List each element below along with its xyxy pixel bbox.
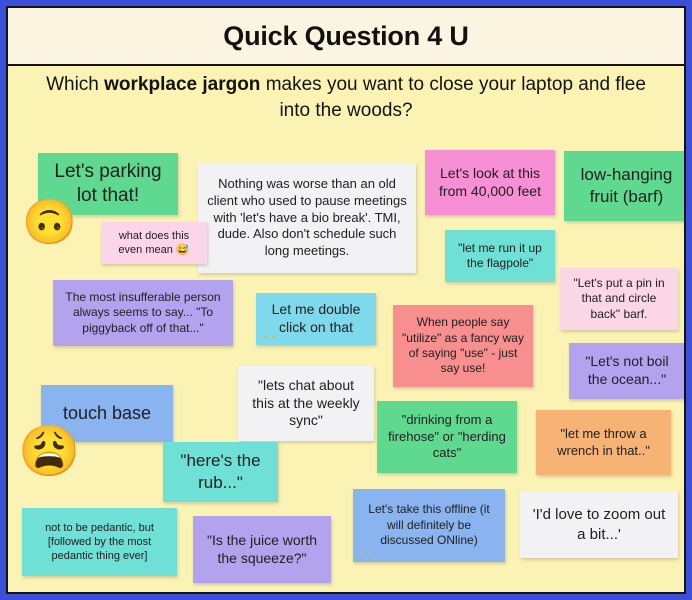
sticky-note-boil-the-ocean[interactable]: "Let's not boil the ocean...": [569, 343, 685, 399]
sticky-note-bio-break[interactable]: Nothing was worse than an old client who…: [198, 163, 416, 273]
sticky-note-text: 'I'd love to zoom out a bit...': [528, 505, 670, 543]
sticky-note-piggyback[interactable]: The most insufferable person always seem…: [53, 280, 233, 346]
sticky-note-text: "drinking from a firehose" or "herding c…: [385, 412, 509, 462]
sticky-note-text: "here's the rub...": [171, 450, 270, 494]
sticky-note-juice-squeeze[interactable]: "Is the juice worth the squeeze?": [193, 516, 331, 583]
sticky-note-put-a-pin[interactable]: "Let's put a pin in that and circle back…: [560, 268, 678, 330]
sticky-note-text: touch base: [49, 402, 165, 425]
sticky-note-firehose[interactable]: "drinking from a firehose" or "herding c…: [377, 401, 517, 473]
sticky-note-pedantic[interactable]: not to be pedantic, but [followed by the…: [22, 508, 177, 576]
sticky-note-weekly-sync[interactable]: "lets chat about this at the weekly sync…: [238, 366, 374, 441]
upside-down-face-icon: 🙃: [22, 201, 77, 245]
sticky-note-text: not to be pedantic, but [followed by the…: [30, 521, 169, 563]
board-frame: Quick Question 4 U Which workplace jargo…: [6, 6, 686, 594]
weary-face-icon: 😩: [18, 426, 80, 476]
sticky-note-text: "Let's not boil the ocean...": [577, 353, 677, 389]
reaction-dots-icon[interactable]: ● ●: [360, 551, 373, 558]
sticky-note-text: The most insufferable person always seem…: [61, 290, 225, 336]
sticky-note-wrench[interactable]: "let me throw a wrench in that..": [536, 410, 671, 475]
sticky-note-text: Nothing was worse than an old client who…: [206, 176, 408, 259]
sticky-note-heres-the-rub[interactable]: "here's the rub...": [163, 442, 278, 502]
sticky-note-text: "let me throw a wrench in that..": [544, 426, 663, 459]
sticky-note-text: Let me double click on that: [264, 301, 368, 337]
question-bold: workplace jargon: [104, 74, 260, 95]
sticky-note-take-offline[interactable]: Let's take this offline (it will definit…: [353, 489, 505, 562]
sticky-note-40000-feet[interactable]: Let's look at this from 40,000 feet: [425, 150, 555, 215]
sticky-note-text: "lets chat about this at the weekly sync…: [246, 377, 366, 431]
question-suffix: makes you want to close your laptop and …: [260, 74, 646, 121]
sticky-note-text: what does this even mean 😅: [109, 229, 199, 257]
question-prefix: Which: [46, 74, 104, 95]
page-title: Quick Question 4 U: [223, 21, 468, 52]
sticky-note-text: "Let's put a pin in that and circle back…: [568, 276, 670, 322]
sticky-note-double-click[interactable]: Let me double click on that● ●: [256, 293, 376, 345]
sticky-note-text: Let's look at this from 40,000 feet: [433, 165, 547, 201]
prompt-question: Which workplace jargon makes you want to…: [8, 72, 684, 123]
sticky-note-low-hanging[interactable]: low-hanging fruit (barf): [564, 151, 686, 221]
sticky-note-zoom-out[interactable]: 'I'd love to zoom out a bit...': [520, 491, 678, 558]
reaction-dots-icon[interactable]: ● ●: [263, 334, 276, 341]
title-bar: Quick Question 4 U: [8, 8, 684, 66]
jargon-board: Quick Question 4 U Which workplace jargo…: [0, 0, 692, 600]
sticky-note-utilize[interactable]: When people say "utilize" as a fancy way…: [393, 305, 533, 387]
sticky-note-text: "let me run it up the flagpole": [453, 241, 547, 272]
sticky-note-flagpole[interactable]: "let me run it up the flagpole": [445, 230, 555, 282]
sticky-note-text: When people say "utilize" as a fancy way…: [401, 315, 525, 376]
sticky-note-what-does-this[interactable]: what does this even mean 😅: [101, 222, 207, 264]
sticky-note-text: "Is the juice worth the squeeze?": [201, 532, 323, 568]
sticky-note-text: low-hanging fruit (barf): [572, 164, 681, 208]
sticky-note-text: Let's take this offline (it will definit…: [361, 502, 497, 548]
